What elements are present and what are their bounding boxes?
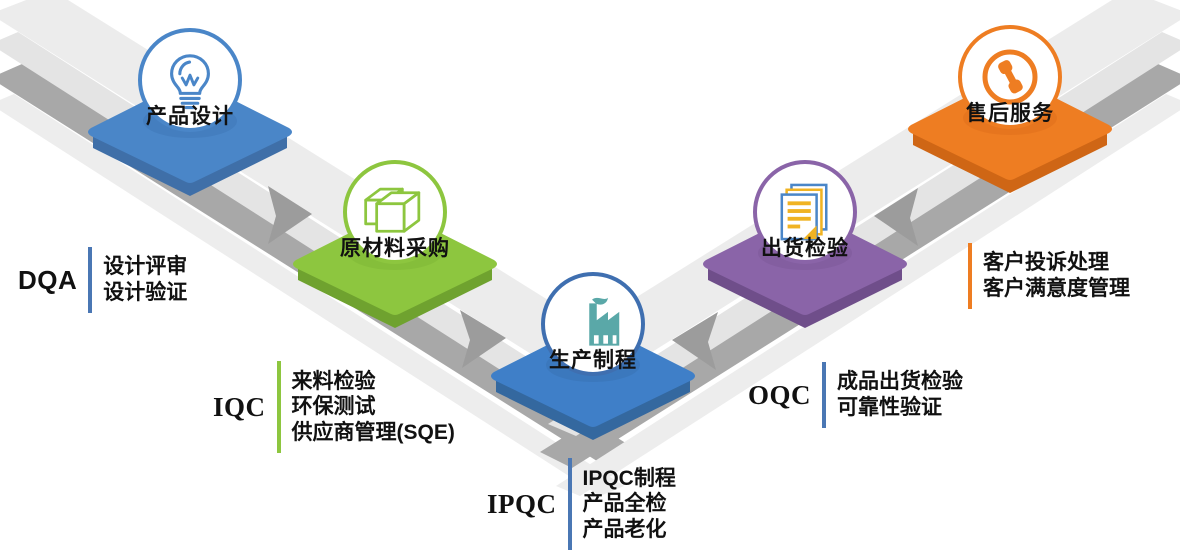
legend-oqc: OQC 成品出货检验 可靠性验证 [748, 362, 963, 428]
legend-lines-ipqc: IPQC制程 产品全检 产品老化 [583, 466, 676, 543]
legend-bar-dqa [88, 247, 92, 313]
legend-line: 客户满意度管理 [983, 276, 1130, 302]
node-after-sales-service[interactable]: 售后服务 [895, 25, 1125, 195]
legend-ipqc: IPQC IPQC制程 产品全检 产品老化 [487, 458, 676, 550]
node-shipping-inspection[interactable]: 出货检验 [690, 160, 920, 330]
legend-line: 环保测试 [292, 394, 455, 420]
node-raw-material-purchase[interactable]: 原材料采购 [280, 160, 510, 330]
node-label-after-sales: 售后服务 [895, 97, 1125, 127]
legend-line: 产品全检 [583, 491, 676, 517]
node-label-shipping: 出货检验 [690, 232, 920, 262]
legend-bar-ipqc [568, 458, 572, 550]
legend-line: 设计评审 [103, 254, 187, 280]
legend-code-dqa: DQA [18, 265, 77, 296]
legend-code-ipqc: IPQC [487, 489, 557, 520]
legend-line: 成品出货检验 [837, 369, 963, 395]
legend-line: 供应商管理(SQE) [292, 420, 455, 446]
legend-iqc: IQC 来料检验 环保测试 供应商管理(SQE) [213, 361, 455, 453]
legend-line: 来料检验 [292, 369, 455, 395]
node-production-process[interactable]: 生产制程 [478, 272, 708, 442]
node-label-product-design: 产品设计 [75, 100, 305, 130]
legend-after-sales: 客户投诉处理 客户满意度管理 [968, 243, 1130, 309]
legend-line: 客户投诉处理 [983, 250, 1130, 276]
node-label-raw-material: 原材料采购 [280, 232, 510, 262]
legend-line: 产品老化 [583, 517, 676, 543]
legend-bar-after-sales [968, 243, 972, 309]
legend-bar-iqc [277, 361, 281, 453]
node-label-production: 生产制程 [478, 344, 708, 374]
legend-lines-dqa: 设计评审 设计验证 [103, 254, 187, 305]
node-product-design[interactable]: 产品设计 [75, 28, 305, 198]
legend-code-oqc: OQC [748, 380, 811, 411]
legend-lines-iqc: 来料检验 环保测试 供应商管理(SQE) [292, 369, 455, 446]
legend-lines-oqc: 成品出货检验 可靠性验证 [837, 369, 963, 420]
legend-bar-oqc [822, 362, 826, 428]
legend-line: 设计验证 [103, 280, 187, 306]
legend-code-iqc: IQC [213, 392, 266, 423]
legend-line: IPQC制程 [583, 466, 676, 492]
legend-line: 可靠性验证 [837, 395, 963, 421]
legend-lines-after-sales: 客户投诉处理 客户满意度管理 [983, 250, 1130, 301]
diagram-canvas: 产品设计 原材料采购 [0, 0, 1180, 550]
legend-dqa: DQA 设计评审 设计验证 [18, 247, 187, 313]
